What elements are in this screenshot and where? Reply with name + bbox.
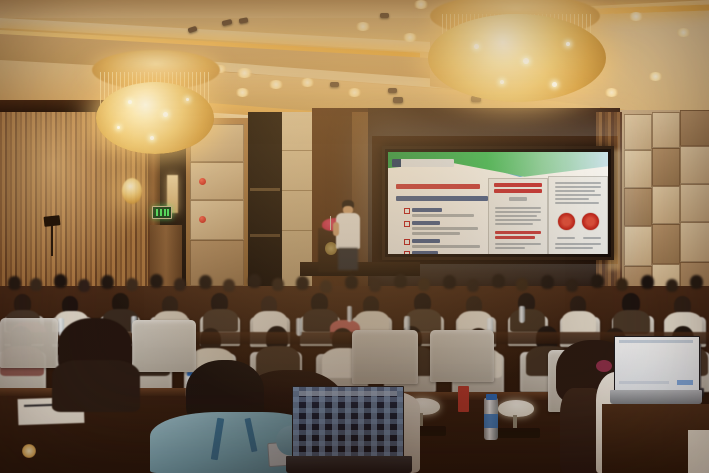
recess-shelf — [250, 234, 280, 237]
downlight — [235, 88, 250, 97]
slide-content — [388, 152, 608, 254]
official-seal — [582, 213, 599, 230]
downlight — [268, 80, 284, 89]
bullet-subtext — [412, 227, 478, 230]
downlight — [628, 12, 644, 21]
speaker-arm — [333, 222, 339, 236]
wall-panel — [624, 188, 652, 226]
red-folder — [458, 386, 469, 412]
wall-panel — [652, 148, 680, 186]
bullet-marker — [404, 251, 410, 254]
chandelier-right-ball — [428, 14, 606, 102]
downlight — [676, 28, 691, 37]
spotlight-fixture — [330, 82, 339, 87]
bullet-text — [412, 208, 442, 212]
wall-panel — [624, 114, 652, 150]
wall-panel — [680, 222, 709, 262]
table-candle — [22, 444, 36, 458]
panel-seam — [282, 230, 312, 231]
panel-seam — [282, 150, 312, 151]
table-lamp-base — [492, 428, 540, 438]
bullet-text — [412, 239, 440, 243]
downlight — [604, 88, 619, 97]
slide-title — [396, 184, 480, 189]
bullet-text — [412, 251, 438, 254]
downlight — [413, 0, 429, 9]
water-bottle — [347, 306, 352, 322]
spotlight-fixture — [380, 13, 389, 18]
decor-knob-red — [199, 178, 206, 185]
chandelier-left-ball — [96, 82, 214, 154]
wall-panel — [680, 184, 709, 222]
wall-panel — [624, 150, 652, 188]
spotlight-fixture — [388, 88, 397, 93]
official-seal — [558, 213, 575, 230]
exit-sign — [152, 206, 172, 219]
chair-foreground — [0, 318, 58, 368]
bullet-marker — [404, 208, 410, 214]
downlight — [300, 78, 315, 87]
panel-seam — [282, 190, 312, 191]
chandelier-far-small — [122, 178, 142, 204]
downlight — [355, 22, 371, 31]
slide-section-heading — [396, 196, 488, 201]
bullet-marker — [404, 221, 410, 227]
chair-foreground — [132, 320, 196, 372]
speaker-body — [336, 213, 360, 249]
wall-panel — [680, 146, 709, 184]
bullet-subtext — [412, 214, 474, 217]
downlight — [236, 68, 253, 78]
chair-foreground — [430, 330, 494, 382]
conference-hall-photo — [0, 0, 709, 473]
dark-recess — [248, 112, 282, 287]
bullet-text — [412, 221, 440, 225]
recess-shelf — [250, 188, 280, 191]
wall-panel — [652, 186, 680, 224]
person-shoulders — [52, 360, 140, 412]
slide-document-right — [548, 176, 608, 254]
wall-panel-column — [282, 112, 312, 287]
wall-panel — [652, 224, 680, 264]
laptop-base-foreground — [286, 456, 412, 473]
water-bottle — [296, 318, 302, 336]
bullet-marker — [404, 239, 410, 245]
bullet-subtext — [412, 245, 480, 248]
person-partial-right — [688, 430, 709, 473]
downlight — [347, 88, 362, 97]
decor-knob-red — [199, 216, 206, 223]
speaker-stand-pole — [51, 226, 53, 256]
hair-tie — [596, 360, 612, 372]
laptop-screen-foreground — [292, 386, 404, 458]
laptop-screen-right-fg — [614, 336, 700, 392]
water-bottle — [519, 306, 525, 323]
organization-logo — [392, 159, 454, 167]
wall-panel — [680, 110, 709, 146]
wall-panel — [652, 112, 680, 148]
bottle-cap — [486, 394, 497, 400]
downlight — [402, 33, 418, 42]
microphone-stem — [330, 216, 331, 230]
slide-document-left — [488, 178, 548, 254]
chair-foreground — [352, 330, 418, 384]
laptop-keyboard-right-fg — [610, 390, 702, 404]
bullet-subtext — [412, 232, 460, 235]
downlight — [648, 72, 663, 81]
projection-screen — [382, 146, 614, 260]
wall-panel — [624, 226, 652, 266]
spotlight-fixture — [393, 97, 403, 103]
bottle-label — [484, 414, 498, 428]
